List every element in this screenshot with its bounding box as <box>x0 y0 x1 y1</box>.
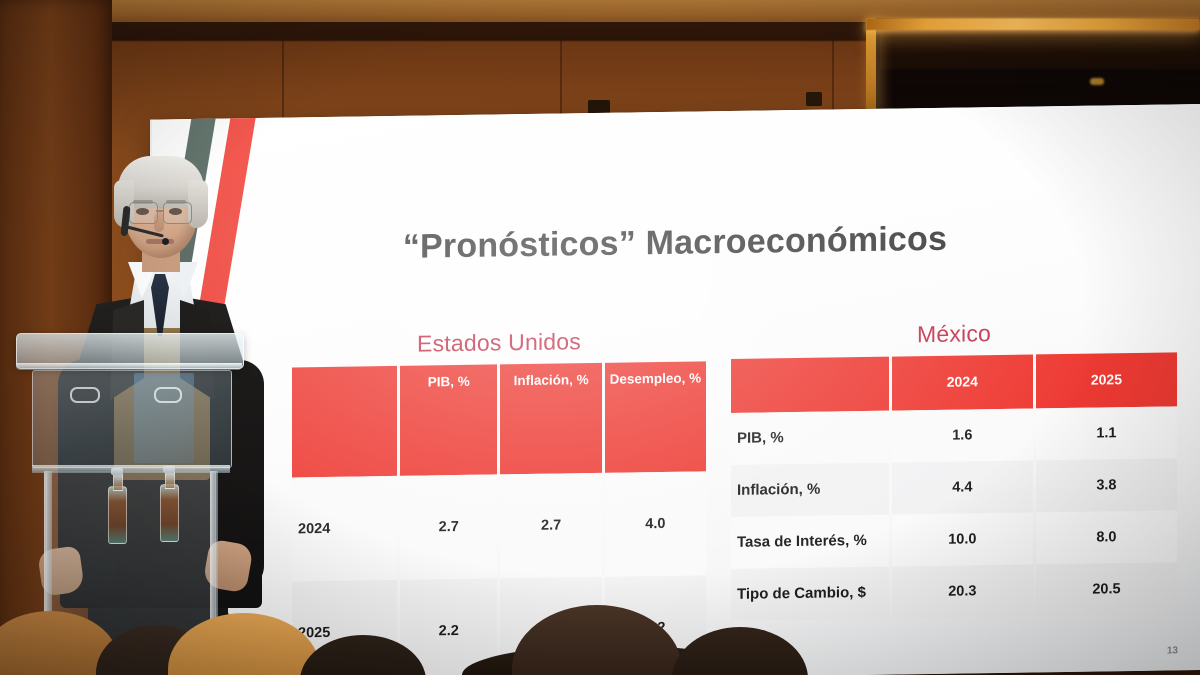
mx-row-label: Tipo de Cambio, $ <box>731 567 889 621</box>
mx-cell: 3.8 <box>1036 458 1177 512</box>
bottle-neck <box>113 473 123 491</box>
table-caption-mx: México <box>728 317 1180 351</box>
us-cell: 2.7 <box>500 473 601 579</box>
table-row: 2024 2.7 2.7 4.0 <box>292 471 706 581</box>
mx-row-label: Tasa de Interés, % <box>731 515 889 569</box>
speaker-eyeglass-right <box>163 202 192 224</box>
slide-number: 13 <box>1167 645 1178 656</box>
mx-row-label: Inflación, % <box>731 463 889 517</box>
speaker-mouth <box>146 239 174 244</box>
alcove-highlight <box>1090 78 1104 85</box>
cove-light-left <box>866 18 876 118</box>
table-header-row: 2024 2025 <box>731 352 1177 413</box>
mx-col-header-0 <box>731 357 889 413</box>
podium-shelf <box>32 465 230 473</box>
podium-top-edge <box>16 363 242 370</box>
bottle-cap <box>163 466 175 473</box>
mx-cell: 1.6 <box>892 408 1033 462</box>
table-row: Inflación, % 4.4 3.8 <box>731 458 1177 517</box>
mx-row-label: PIB, % <box>731 411 889 465</box>
mx-cell: 8.0 <box>1036 510 1177 564</box>
mx-col-header-2: 2025 <box>1036 352 1177 408</box>
table-header-row: PIB, % Inflación, % Desempleo, % <box>292 361 706 477</box>
mx-col-header-1: 2024 <box>892 354 1033 410</box>
us-col-header-1: PIB, % <box>400 364 497 475</box>
projection-screen: “Pronósticos” Macroeconómicos Estados Un… <box>150 104 1200 675</box>
table-row: PIB, % 1.6 1.1 <box>731 406 1177 465</box>
table-row: Tasa de Interés, % 10.0 8.0 <box>731 510 1177 569</box>
us-cell: 2.7 <box>400 474 497 579</box>
water-bottle <box>160 466 177 540</box>
bottle-body <box>160 484 179 542</box>
mx-cell: 4.4 <box>892 460 1033 514</box>
table-mexico: México 2024 2025 PIB, % 1.6 1.1 <box>728 317 1180 621</box>
mx-cell: 10.0 <box>892 512 1033 566</box>
wall-alcove-inner <box>880 30 1200 108</box>
table-caption-us: Estados Unidos <box>289 326 709 359</box>
podium-body <box>32 370 232 468</box>
us-col-header-0 <box>292 366 397 478</box>
podium-handle-right <box>154 387 182 403</box>
bottle-neck <box>165 471 175 489</box>
table-row: Tipo de Cambio, $ 20.3 20.5 <box>731 562 1177 621</box>
mx-cell: 1.1 <box>1036 406 1177 460</box>
cove-light-strip <box>866 18 1200 30</box>
mx-cell: 20.5 <box>1036 562 1177 616</box>
us-cell: 4.0 <box>605 471 706 577</box>
wall-object <box>806 92 822 106</box>
mx-cell: 20.3 <box>892 564 1033 618</box>
podium-handle-left <box>70 387 100 403</box>
mx-data-table: 2024 2025 PIB, % 1.6 1.1 Inflación, % 4.… <box>728 352 1180 621</box>
water-bottle <box>108 468 125 542</box>
speaker-nose <box>154 212 164 232</box>
presentation-photo: “Pronósticos” Macroeconómicos Estados Un… <box>0 0 1200 675</box>
us-row-label: 2024 <box>292 476 397 582</box>
us-col-header-3: Desempleo, % <box>605 361 706 473</box>
headset-mic-tip <box>162 238 169 245</box>
us-col-header-2: Inflación, % <box>500 363 601 475</box>
bottle-body <box>108 486 127 544</box>
bottle-cap <box>111 468 123 475</box>
